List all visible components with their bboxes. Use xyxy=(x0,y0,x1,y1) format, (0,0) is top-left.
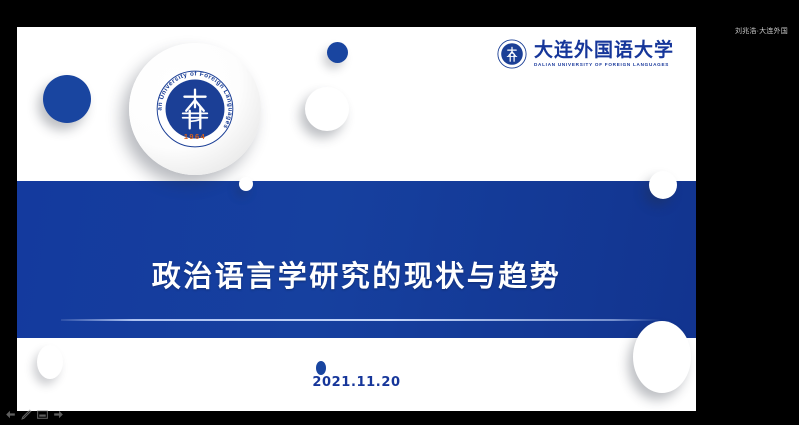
decorative-dot-blue-bottom xyxy=(316,361,326,375)
slide-canvas[interactable]: Dalian University of Foreign Languages 1… xyxy=(17,27,696,411)
slide-author: 刘兆浩 大连外国语大学 xyxy=(17,339,696,360)
university-logo-plate: Dalian University of Foreign Languages 1… xyxy=(129,43,261,175)
presentation-viewport: 刘兆浩·大连外国 Dalian University of Foreign La… xyxy=(0,0,799,425)
header-university-logo: 大连外国语大学 DALIAN UNIVERSITY OF FOREIGN LAN… xyxy=(497,39,674,69)
slide-title: 政治语言学研究的现状与趋势 xyxy=(17,253,696,295)
header-logo-english-name: DALIAN UNIVERSITY OF FOREIGN LANGUAGES xyxy=(534,63,674,68)
university-emblem-icon: Dalian University of Foreign Languages 1… xyxy=(151,65,239,153)
university-seal-icon xyxy=(497,39,527,69)
arrow-left-icon[interactable] xyxy=(4,408,17,421)
slide-date: 2021.11.20 xyxy=(17,375,696,390)
decorative-dot-white-bottom-left xyxy=(37,345,63,379)
pen-icon[interactable] xyxy=(20,408,33,421)
slide-icon[interactable] xyxy=(36,408,49,421)
arrow-right-icon[interactable] xyxy=(52,408,65,421)
decorative-dot-white-band-right xyxy=(649,171,677,199)
header-logo-chinese-name: 大连外国语大学 xyxy=(534,41,674,60)
decorative-dot-white-band-left xyxy=(239,177,253,191)
presenter-toolbar[interactable] xyxy=(0,406,69,423)
decorative-dot-blue-large xyxy=(43,75,91,123)
decorative-dot-white-upper xyxy=(305,87,349,131)
overlay-caption: 刘兆浩·大连外国 xyxy=(735,27,799,37)
decorative-dot-blue-small xyxy=(327,42,348,63)
svg-text:1964: 1964 xyxy=(184,132,206,141)
title-divider xyxy=(61,319,661,321)
